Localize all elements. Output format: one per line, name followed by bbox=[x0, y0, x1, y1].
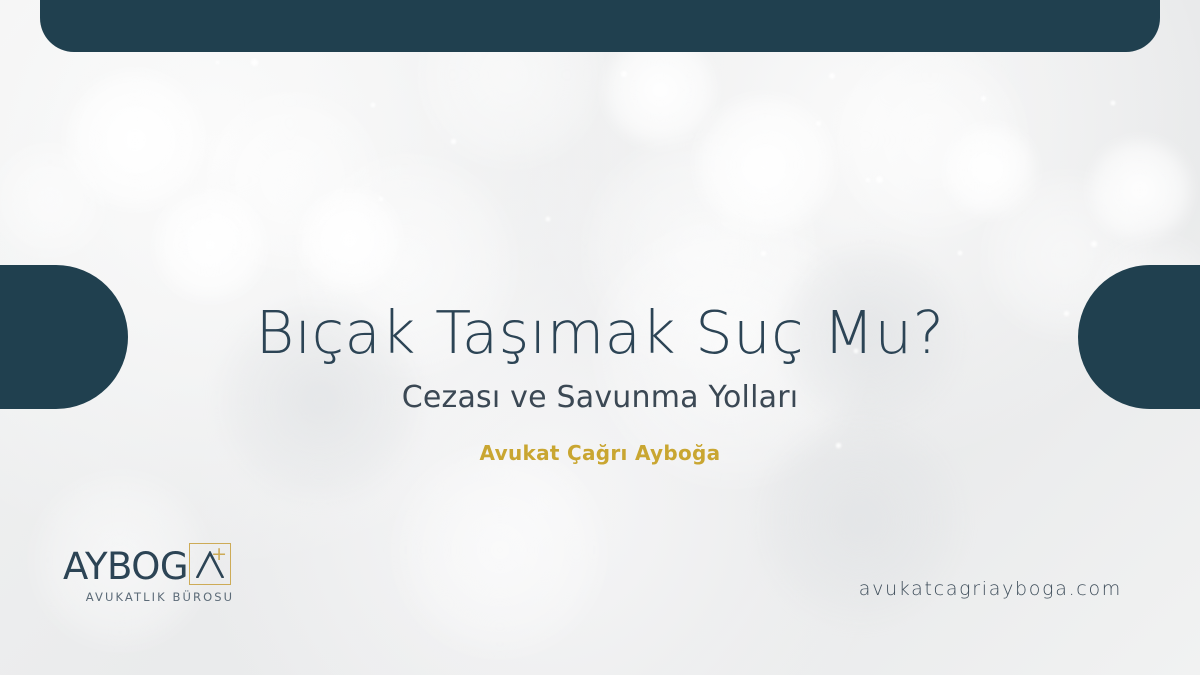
logo-tagline: AVUKATLIK BÜROSU bbox=[63, 590, 263, 604]
ayboga-logo: AYBOG + AVUKATLIK BÜROSU bbox=[63, 543, 263, 604]
headline-block: Bıçak Taşımak Suç Mu? Cezası ve Savunma … bbox=[0, 300, 1200, 465]
slide-author: Avukat Çağrı Ayboğa bbox=[0, 441, 1200, 465]
top-navy-bar bbox=[40, 0, 1160, 52]
logo-plus-icon: + bbox=[211, 545, 227, 564]
logo-wordmark: AYBOG bbox=[63, 548, 188, 585]
website-url: avukatcagriayboga.com bbox=[859, 578, 1122, 600]
logo-monogram-box: + bbox=[189, 543, 231, 585]
slide-title: Bıçak Taşımak Suç Mu? bbox=[0, 300, 1200, 366]
presentation-slide: Bıçak Taşımak Suç Mu? Cezası ve Savunma … bbox=[0, 0, 1200, 675]
slide-subtitle: Cezası ve Savunma Yolları bbox=[0, 380, 1200, 415]
logo-row: AYBOG + bbox=[63, 543, 263, 585]
